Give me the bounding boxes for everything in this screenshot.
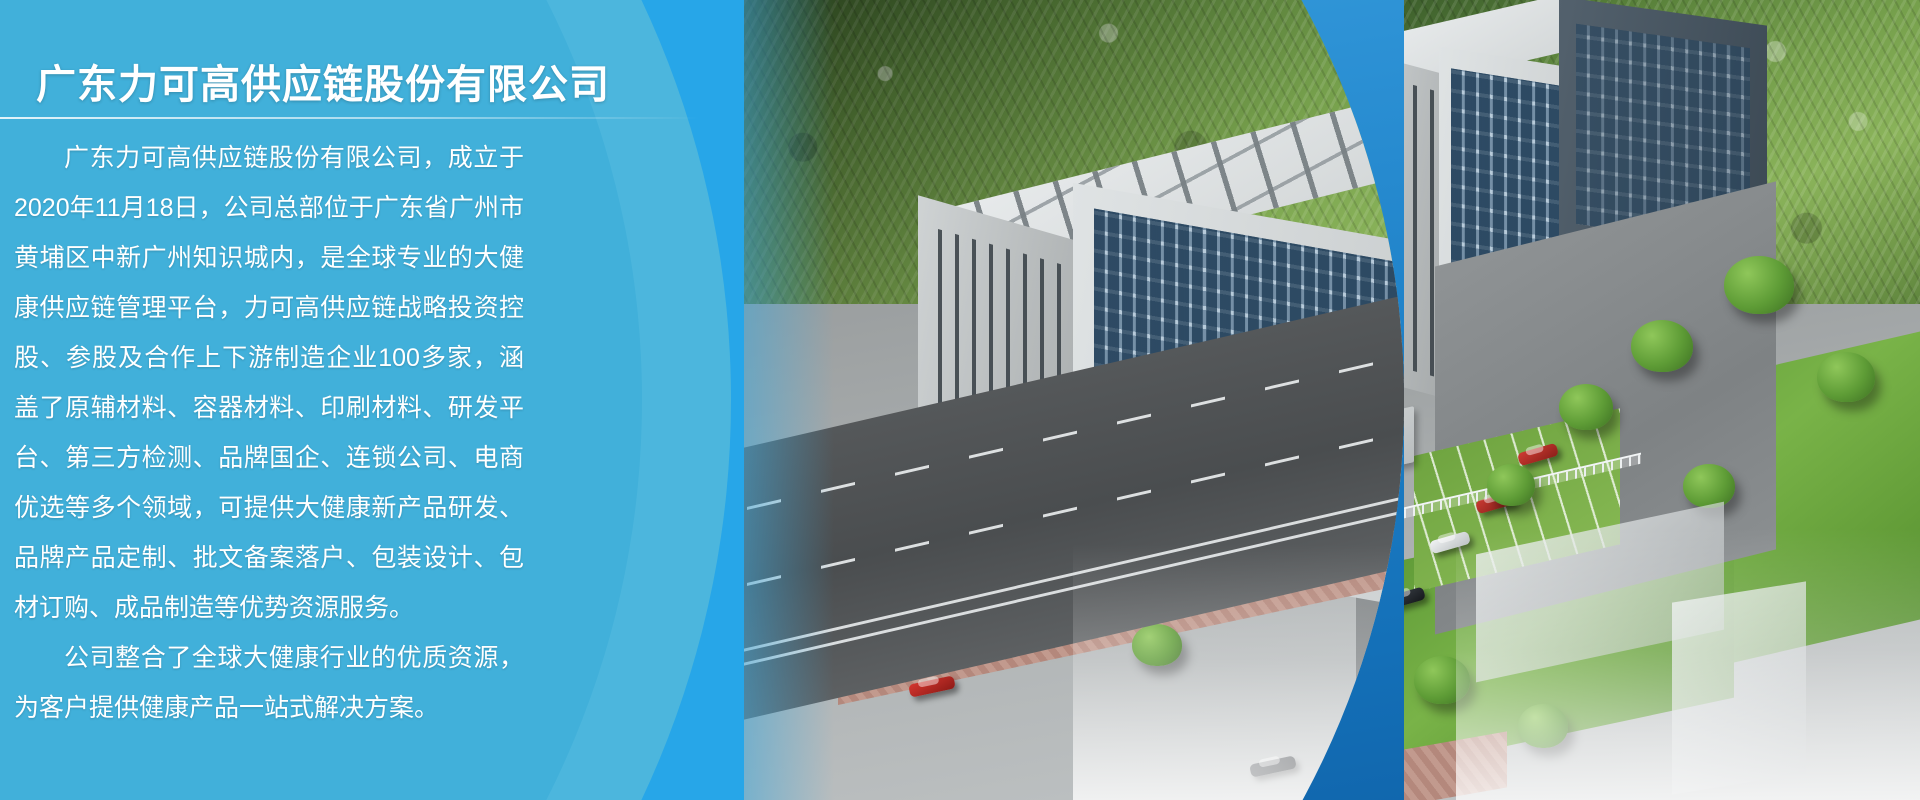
tree (1559, 384, 1613, 430)
tree (1683, 464, 1735, 508)
tree (1724, 256, 1794, 314)
description-paragraph: 广东力可高供应链股份有限公司，成立于2020年11月18日，公司总部位于广东省广… (14, 133, 524, 633)
tree (1817, 352, 1875, 402)
company-description: 广东力可高供应链股份有限公司，成立于2020年11月18日，公司总部位于广东省广… (14, 133, 524, 733)
company-title: 广东力可高供应链股份有限公司 (36, 52, 610, 110)
tree (1487, 464, 1535, 506)
photo-curved-mask (744, 0, 1404, 800)
photo-scene-left (744, 0, 1404, 800)
photo-haze (1073, 544, 1404, 800)
text-panel: 广东力可高供应链股份有限公司 广东力可高供应链股份有限公司，成立于2020年11… (0, 0, 760, 800)
title-divider (0, 117, 700, 119)
tree (1631, 320, 1693, 372)
description-paragraph: 公司整合了全球大健康行业的优质资源，为客户提供健康产品一站式解决方案。 (14, 633, 524, 733)
photo-haze (1456, 528, 1920, 800)
photo-scene-right (1404, 0, 1920, 800)
company-profile-banner: 广东力可高供应链股份有限公司 广东力可高供应链股份有限公司，成立于2020年11… (0, 0, 1920, 800)
campus-aerial-photo (744, 0, 1920, 800)
